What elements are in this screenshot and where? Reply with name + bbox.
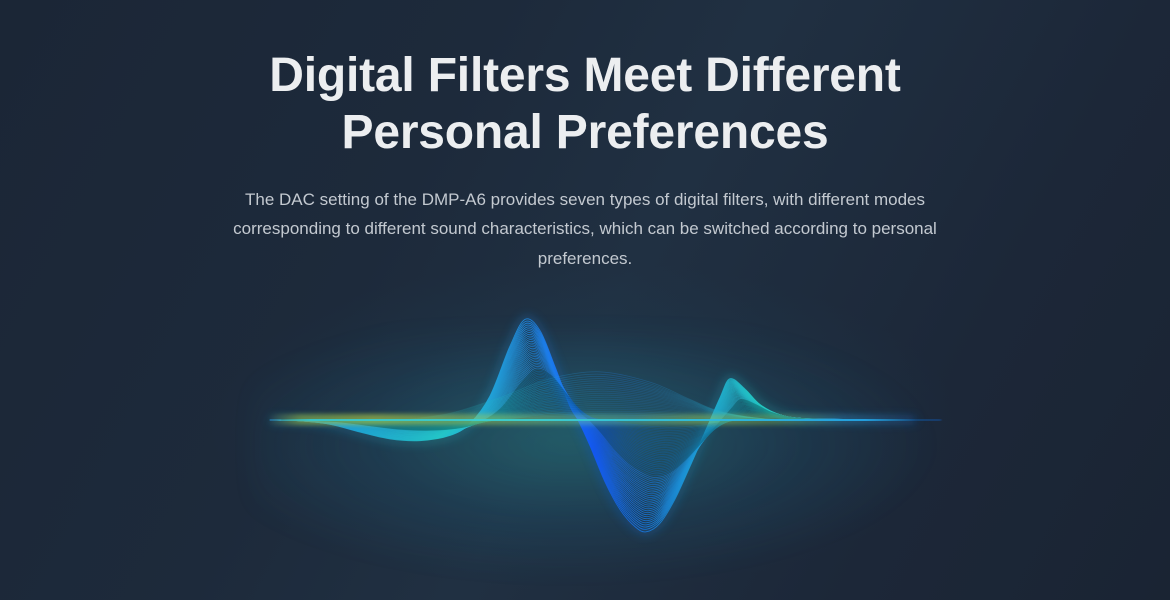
waveform-svg — [0, 278, 1170, 588]
hero-banner: Digital Filters Meet Different Personal … — [0, 0, 1170, 600]
page-subtitle: The DAC setting of the DMP-A6 provides s… — [190, 185, 980, 273]
page-title-line-2: Personal Preferences — [342, 106, 829, 159]
page-title-line-1: Digital Filters Meet Different — [269, 49, 900, 102]
audio-waveform-illustration — [0, 278, 1170, 588]
waveform-line-stack — [270, 319, 942, 532]
page-title: Digital Filters Meet Different Personal … — [0, 0, 1170, 161]
hero-text-block: Digital Filters Meet Different Personal … — [0, 0, 1170, 273]
